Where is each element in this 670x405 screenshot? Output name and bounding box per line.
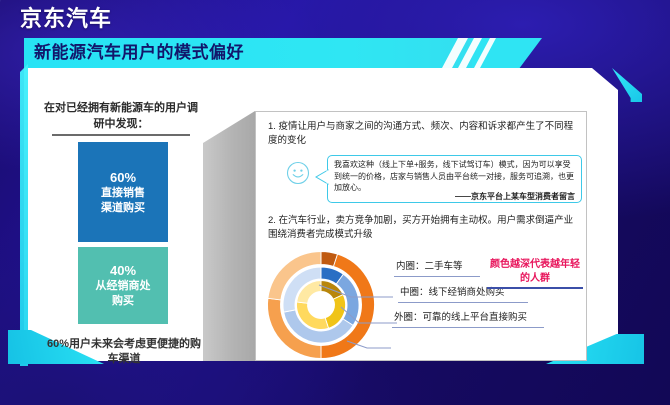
quote-attribution: ——京东平台上某车型消费者留言 (334, 191, 575, 202)
chart-label-middle-rule (398, 302, 528, 303)
bar-caption-dealer-line2: 购买 (112, 294, 134, 309)
page-title: 新能源汽车用户的模式偏好 (34, 40, 244, 66)
chart-annotation-note: 颜色越深代表越年轻的人群 (487, 258, 583, 286)
channel-bar-direct-sales: 60% 直接销售 渠道购买 (78, 142, 168, 242)
bar-percent-dealer: 40% (110, 262, 136, 279)
chart-label-outer-rule (392, 327, 544, 328)
smiley-face-icon (286, 161, 310, 185)
bar-caption-dealer-line1: 从经销商处 (96, 279, 151, 294)
bar-percent-direct: 60% (110, 169, 136, 186)
insight-point-2: 2. 在汽车行业，卖方竞争加剧，买方开始拥有主动权。用户需求倒逼产业围绕消费者完… (268, 214, 576, 242)
quote-text: 我喜欢这种（线上下单+服务，线下试驾订车）模式，因为可以享受到统一的价格，店家与… (334, 159, 575, 194)
chart-label-inner-rule (394, 276, 480, 277)
slide-root: 京东汽车 新能源汽车用户的模式偏好 在对已经拥有新能源车的用户调研中发现： 60… (0, 0, 670, 405)
quote-bubble-tail (315, 169, 329, 185)
bar-caption-direct-line2: 渠道购买 (101, 201, 145, 216)
panel-3d-slab (203, 111, 255, 361)
title-banner-tail (472, 38, 542, 68)
chart-annotation-underline (487, 287, 583, 289)
left-footer-note: 60%用户未来会考虑更便捷的购车渠道 (44, 337, 204, 367)
chart-leader-lines (255, 249, 505, 361)
channel-bar-dealer: 40% 从经销商处 购买 (78, 247, 168, 324)
bar-caption-direct-line1: 直接销售 (101, 186, 145, 201)
chart-label-inner: 内圈：二手车等 (396, 260, 463, 273)
chart-label-outer: 外圈：可靠的线上平台直接购买 (394, 311, 527, 324)
brand-logo-text: 京东汽车 (20, 4, 112, 34)
insight-point-1: 1. 疫情让用户与商家之间的沟通方式、频次、内容和诉求都产生了不同程度的变化 (268, 120, 578, 148)
card-accent-left (20, 64, 28, 366)
survey-lead-text: 在对已经拥有新能源车的用户调研中发现： (44, 100, 198, 132)
lead-divider (52, 134, 190, 136)
